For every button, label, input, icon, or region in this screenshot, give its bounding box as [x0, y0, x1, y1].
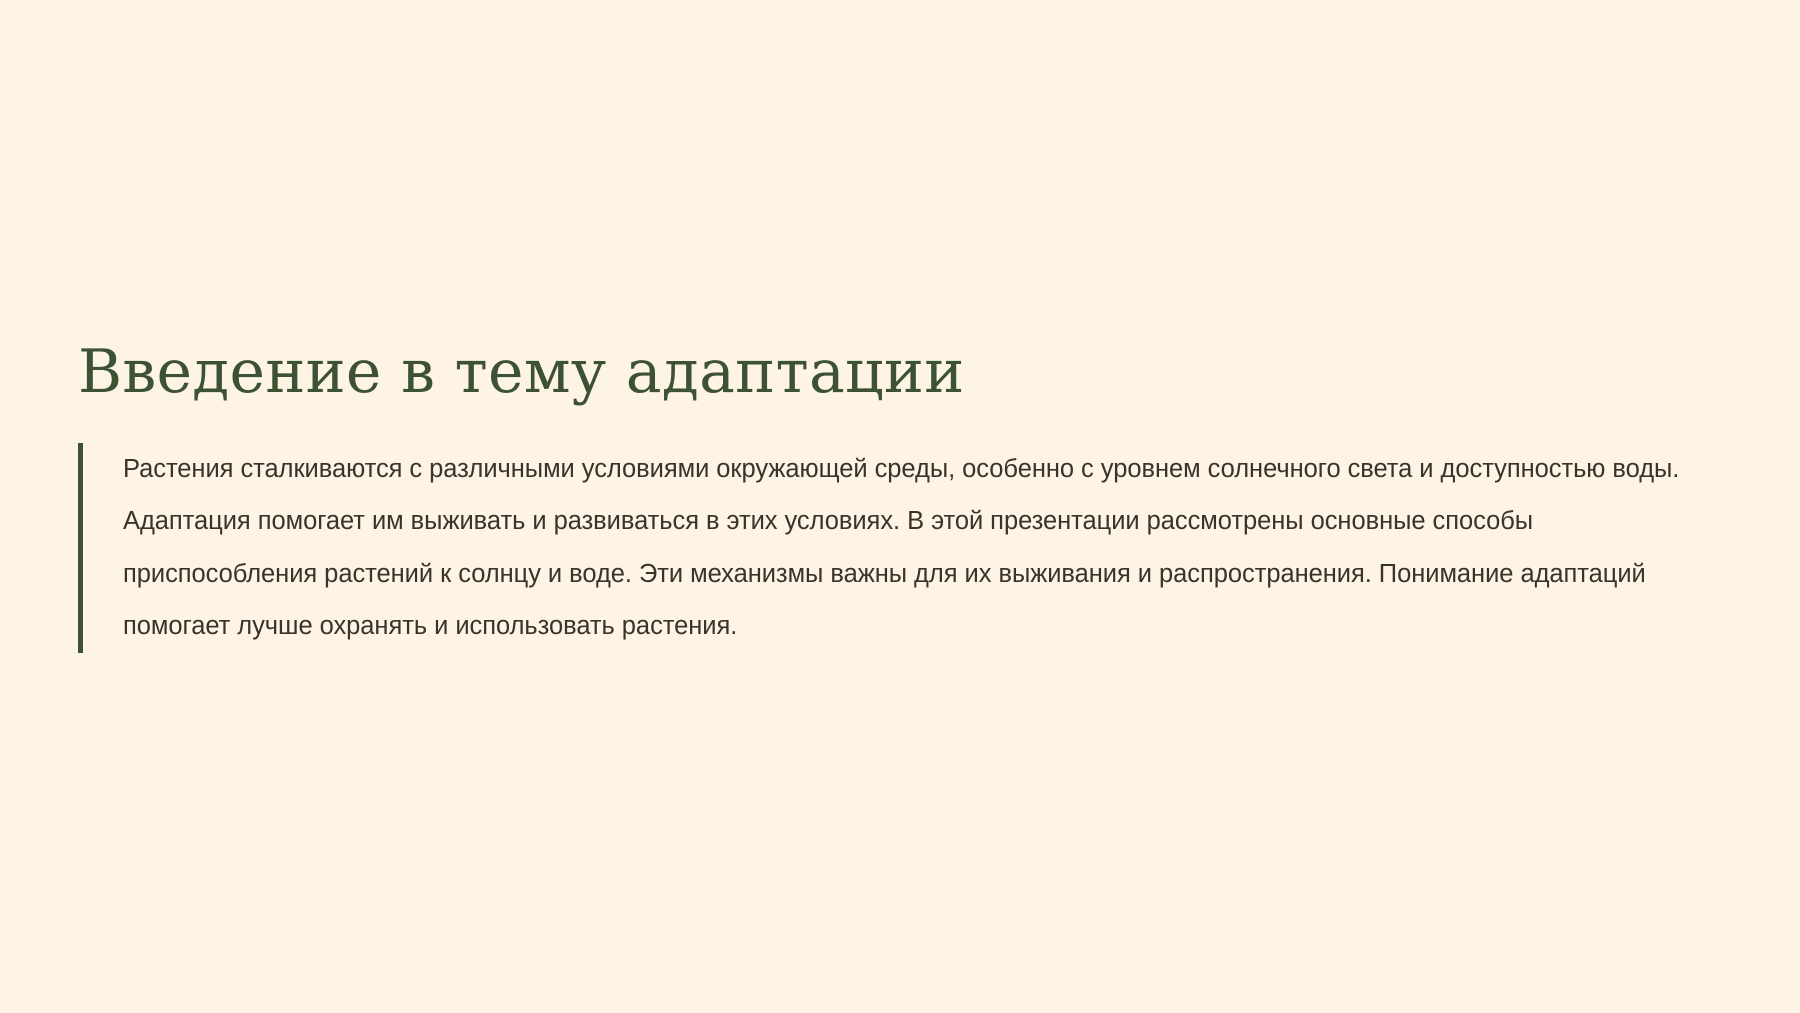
page-title: Введение в тему адаптации — [78, 340, 1718, 405]
body-paragraph: Растения сталкиваются с различными услов… — [123, 443, 1718, 653]
slide-content: Введение в тему адаптации Растения сталк… — [78, 340, 1718, 653]
accent-bar — [78, 443, 83, 653]
body-block: Растения сталкиваются с различными услов… — [78, 443, 1718, 653]
slide-canvas: Введение в тему адаптации Растения сталк… — [0, 0, 1800, 1013]
